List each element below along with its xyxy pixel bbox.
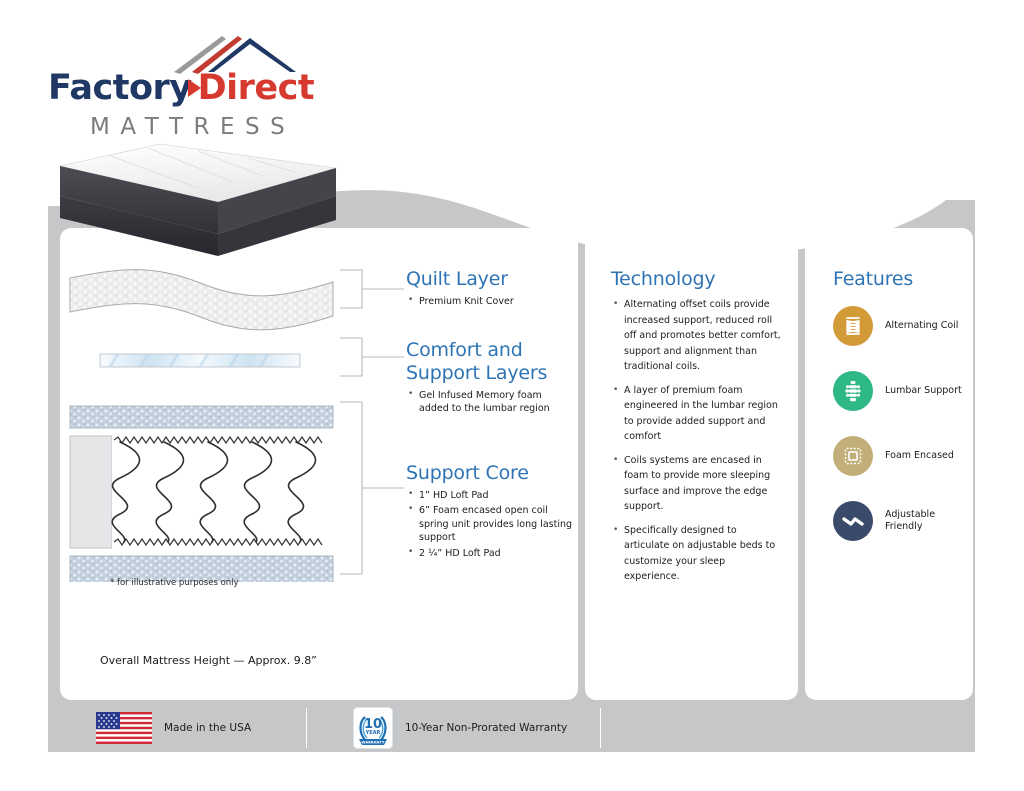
adjustable-wave-icon [833, 501, 873, 541]
logo-word-factory: Factory [48, 68, 192, 108]
spec-block-support-core: Support Core 1” HD Loft Pad 6” Foam enca… [406, 462, 574, 561]
logo-subtitle: MATTRESS [90, 114, 295, 140]
footer-warranty: 10 YEAR WARRANTY 10-Year Non-Prorated Wa… [353, 704, 567, 752]
footer-bar: Made in the USA 10 YEAR WARRANTY 10-Year… [48, 704, 975, 752]
spec-heading-support-core: Support Core [406, 462, 574, 485]
overall-mattress-height: Overall Mattress Height — Approx. 9.8” [100, 654, 317, 667]
feature-label: Foam Encased [885, 450, 954, 463]
mattress-layer-diagram [68, 262, 338, 582]
leader-line-brackets [336, 262, 406, 587]
spec-heading-quilt: Quilt Layer [406, 268, 574, 291]
spine-icon [833, 371, 873, 411]
diagram-caption: * for illustrative purposes only [110, 578, 239, 588]
footer-divider [600, 708, 601, 748]
layer-spec-column: Quilt Layer Premium Knit Cover Comfort a… [406, 268, 574, 576]
product-spec-sheet: FactoryDirect MATTRESS [0, 0, 1024, 791]
technology-heading: Technology [611, 268, 781, 290]
spec-bullet: 1” HD Loft Pad [406, 489, 574, 503]
brand-logo: FactoryDirect MATTRESS [48, 32, 348, 132]
foam-encased-square-icon [833, 436, 873, 476]
feature-adjustable-friendly: Adjustable Friendly [833, 501, 968, 541]
footer-divider [306, 708, 307, 748]
warranty-badge-icon: 10 YEAR WARRANTY [353, 707, 393, 749]
spec-bullet: Premium Knit Cover [406, 295, 574, 309]
svg-text:YEAR: YEAR [365, 730, 381, 736]
spec-heading-comfort: Comfort and Support Layers [406, 339, 574, 385]
spec-bullet: Gel Infused Memory foam added to the lum… [406, 389, 574, 416]
features-heading: Features [833, 268, 968, 290]
feature-alternating-coil: Alternating Coil [833, 306, 968, 346]
logo-wordmark: FactoryDirect [48, 68, 314, 108]
diagram-support-core [70, 406, 333, 582]
technology-bullet: A layer of premium foam engineered in th… [611, 383, 781, 445]
feature-lumbar-support: Lumbar Support [833, 371, 968, 411]
feature-foam-encased: Foam Encased [833, 436, 968, 476]
logo-word-direct: Direct [198, 68, 315, 108]
spec-block-quilt: Quilt Layer Premium Knit Cover [406, 268, 574, 309]
diagram-quilt-layer [70, 270, 333, 330]
usa-flag-icon [96, 712, 152, 744]
diagram-gel-layer [100, 354, 300, 367]
technology-bullet: Coils systems are encased in foam to pro… [611, 453, 781, 515]
coil-spring-icon [833, 306, 873, 346]
spec-bullet: 2 ¼” HD Loft Pad [406, 547, 574, 561]
technology-column: Technology Alternating offset coils prov… [611, 268, 781, 593]
footer-label: Made in the USA [164, 722, 251, 734]
svg-text:WARRANTY: WARRANTY [362, 741, 385, 745]
feature-label: Lumbar Support [885, 385, 962, 398]
technology-bullet: Alternating offset coils provide increas… [611, 297, 781, 375]
footer-label: 10-Year Non-Prorated Warranty [405, 722, 567, 734]
mattress-product-photo [48, 138, 348, 258]
feature-label: Alternating Coil [885, 320, 958, 333]
features-column: Features Alternating Coil [833, 268, 968, 566]
technology-bullet: Specifically designed to articulate on a… [611, 523, 781, 585]
feature-label: Adjustable Friendly [885, 509, 968, 534]
spec-bullet: 6” Foam encased open coil spring unit pr… [406, 504, 574, 545]
footer-made-in-usa: Made in the USA [96, 704, 251, 752]
spec-block-comfort: Comfort and Support Layers Gel Infused M… [406, 339, 574, 416]
